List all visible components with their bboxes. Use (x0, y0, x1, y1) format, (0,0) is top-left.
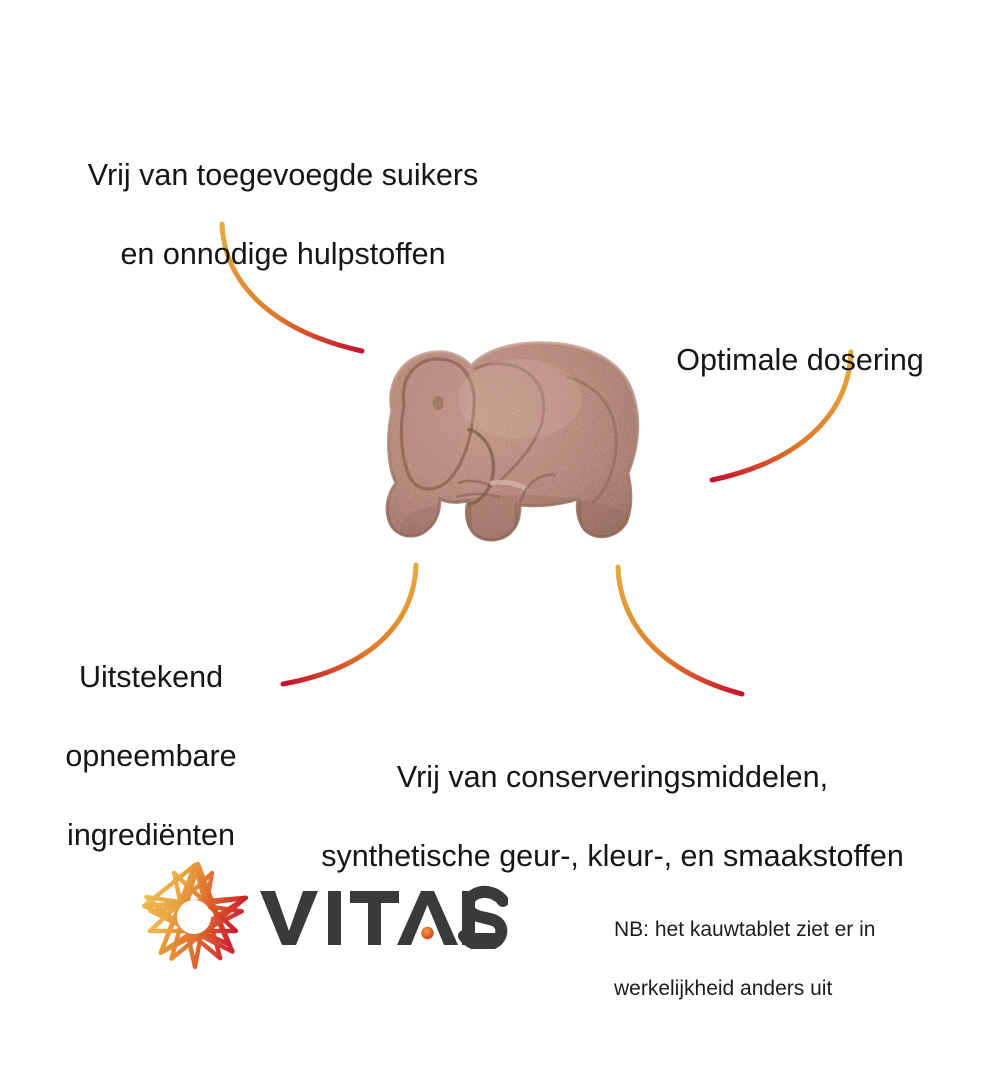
connector-curve-bottom-right (618, 567, 742, 694)
callout-line: Vrij van conserveringsmiddelen, (255, 758, 970, 798)
infographic-canvas: Vrij van toegevoegde suikers en onnodige… (0, 0, 1000, 1082)
callout-absorbable-ingredients: Uitstekend opneembare ingrediënten (26, 618, 276, 895)
callout-line: Optimale dosering (620, 341, 980, 381)
elephant-eye (433, 396, 444, 410)
disclaimer-note: NB: het kauwtablet ziet er in werkelijkh… (614, 885, 964, 1034)
vitals-wordmark (258, 883, 508, 949)
callout-line: ingrediënten (26, 816, 276, 856)
callout-line: Vrij van toegevoegde suikers (18, 156, 548, 196)
callout-line: opneembare (26, 737, 276, 777)
brand-lockup (136, 857, 516, 979)
disclaimer-line: NB: het kauwtablet ziet er in (614, 915, 964, 945)
product-image-elephant-tablet (370, 333, 655, 561)
callout-line: en onnodige hulpstoffen (18, 235, 548, 275)
callout-free-of-added-sugars: Vrij van toegevoegde suikers en onnodige… (18, 116, 548, 314)
elephant-body (370, 333, 655, 561)
vitals-starburst-logo (136, 859, 254, 977)
elephant-tablet-illustration (370, 333, 655, 561)
disclaimer-line: werkelijkheid anders uit (614, 974, 964, 1004)
callout-optimal-dosage: Optimale dosering (620, 301, 980, 420)
connector-curve-bottom-left (283, 565, 416, 684)
callout-line: Uitstekend (26, 658, 276, 698)
vitals-logo-dot (421, 927, 433, 939)
